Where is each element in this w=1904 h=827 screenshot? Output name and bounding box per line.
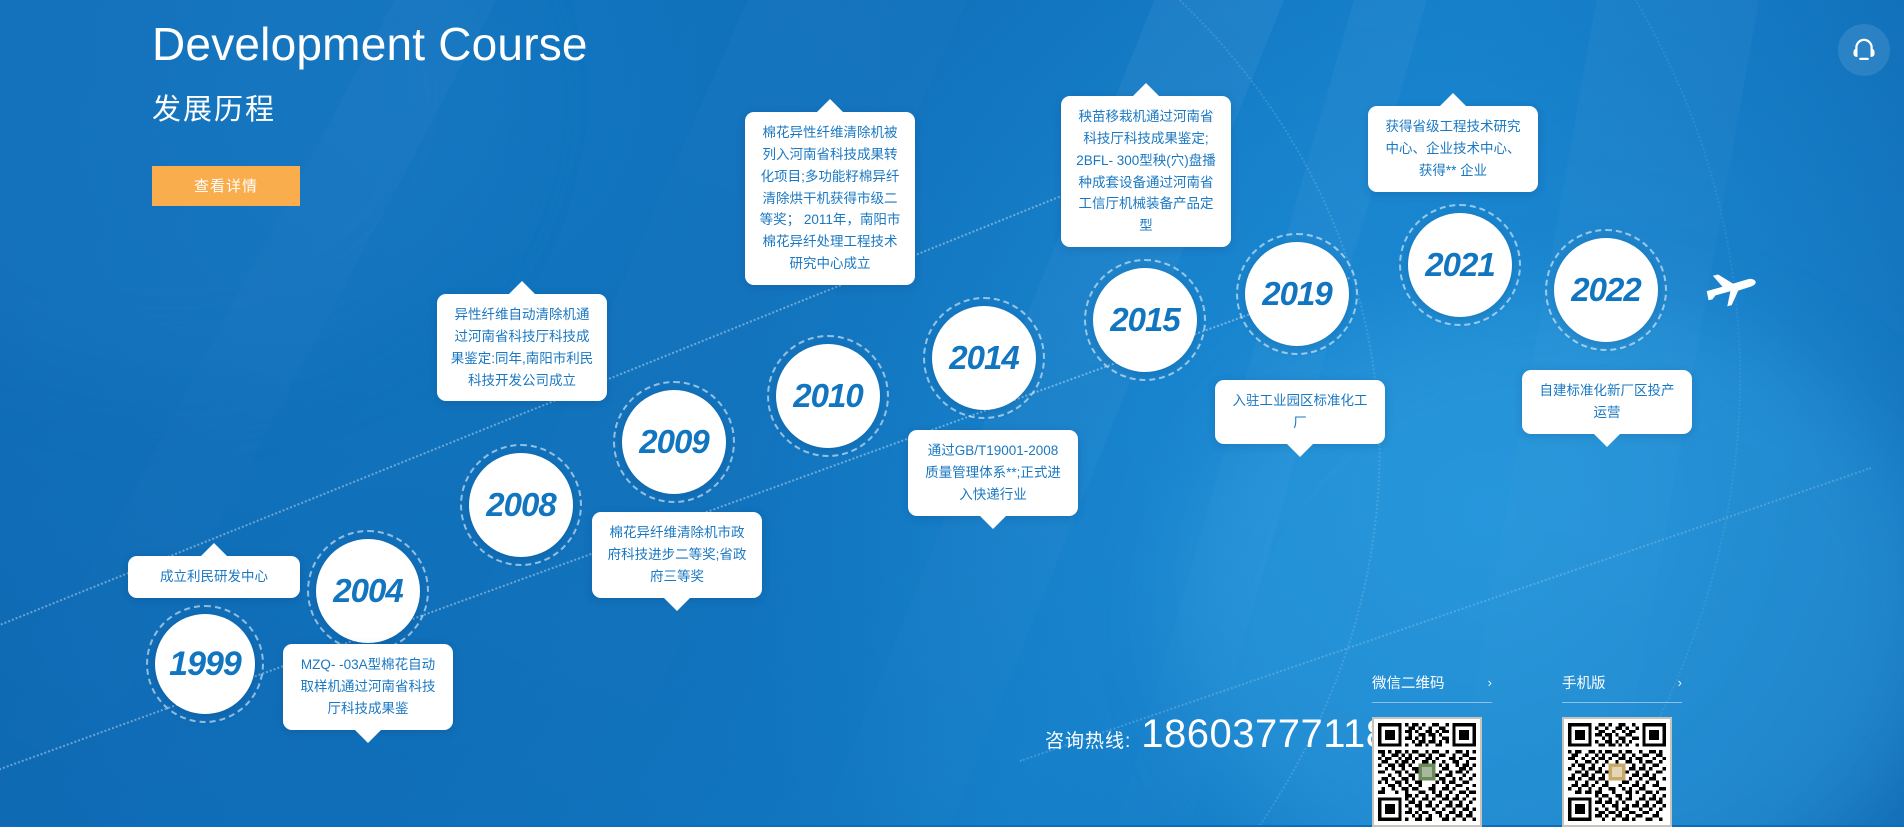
timeline-card-text: 棉花异性纤维清除机被列入河南省科技成果转化项目;多功能籽棉异纤清除烘干机获得市级… — [760, 125, 901, 271]
qr-block-mobile[interactable]: 手机版 › — [1562, 672, 1682, 827]
page-title-english: Development Course — [152, 20, 588, 70]
timeline-year-circle[interactable]: 2021 — [1408, 213, 1512, 317]
chevron-right-icon: › — [1488, 675, 1492, 690]
timeline-year-circle[interactable]: 2008 — [469, 453, 573, 557]
airplane-icon — [1705, 268, 1761, 313]
timeline-card-text: 通过GB/T19001-2008质量管理体系**;正式进入快递行业 — [925, 443, 1061, 502]
timeline-card[interactable]: MZQ- -03A型棉花自动取样机通过河南省科技厅科技成果鉴 — [283, 644, 453, 730]
view-details-button[interactable]: 查看详情 — [152, 166, 300, 206]
timeline-card[interactable]: 异性纤维自动清除机通过河南省科技厅科技成果鉴定:同年,南阳市利民科技开发公司成立 — [437, 294, 607, 401]
timeline-card[interactable]: 获得省级工程技术研究中心、企业技术中心、获得** 企业 — [1368, 106, 1538, 192]
card-pointer-icon — [1440, 93, 1466, 106]
qr-header[interactable]: 手机版 › — [1562, 672, 1682, 703]
timeline-year-label: 1999 — [169, 645, 241, 684]
qr-label: 手机版 — [1562, 672, 1606, 693]
hotline-label: 咨询热线: — [1045, 726, 1131, 753]
timeline-year-circle[interactable]: 2019 — [1245, 242, 1349, 346]
timeline-card-text: 棉花异纤维清除机市政府科技进步二等奖;省政府三等奖 — [608, 525, 747, 584]
card-pointer-icon — [1133, 83, 1159, 96]
qr-code-image-mobile — [1562, 717, 1672, 827]
timeline-year-circle[interactable]: 1999 — [155, 614, 255, 714]
timeline-year-label: 2008 — [486, 486, 555, 524]
timeline-year-label: 2015 — [1110, 301, 1179, 339]
timeline-card[interactable]: 棉花异性纤维清除机被列入河南省科技成果转化项目;多功能籽棉异纤清除烘干机获得市级… — [745, 112, 915, 285]
card-pointer-icon — [1287, 444, 1313, 457]
timeline-card[interactable]: 自建标准化新厂区投产运营 — [1522, 370, 1692, 434]
page-header: Development Course 发展历程 查看详情 — [152, 20, 588, 206]
page-title-chinese: 发展历程 — [152, 86, 588, 128]
card-pointer-icon — [664, 598, 690, 611]
timeline-card-text: 获得省级工程技术研究中心、企业技术中心、获得** 企业 — [1386, 119, 1521, 178]
timeline-year-label: 2010 — [793, 377, 862, 415]
timeline-card-text: 秧苗移栽机通过河南省科技厅科技成果鉴定; 2BFL- 300型秧(穴)盘播种成套… — [1076, 109, 1216, 233]
card-pointer-icon — [201, 543, 227, 556]
timeline-card[interactable]: 入驻工业园区标准化工厂 — [1215, 380, 1385, 444]
qr-header[interactable]: 微信二维码 › — [1372, 672, 1492, 703]
timeline-card-text: 自建标准化新厂区投产运营 — [1540, 383, 1675, 420]
timeline-year-label: 2022 — [1571, 271, 1640, 309]
timeline-card[interactable]: 通过GB/T19001-2008质量管理体系**;正式进入快递行业 — [908, 430, 1078, 516]
timeline-year-label: 2019 — [1262, 275, 1331, 313]
chevron-right-icon: › — [1678, 675, 1682, 690]
timeline-year-circle[interactable]: 2004 — [316, 539, 420, 643]
timeline-year-label: 2004 — [333, 572, 402, 610]
card-pointer-icon — [355, 730, 381, 743]
timeline-card-text: 入驻工业园区标准化工厂 — [1233, 393, 1368, 430]
hotline: 咨询热线: 18603777118 — [1045, 712, 1389, 757]
timeline-year-circle[interactable]: 2009 — [622, 390, 726, 494]
card-pointer-icon — [980, 516, 1006, 529]
timeline-year-label: 2009 — [639, 423, 708, 461]
card-pointer-icon — [1594, 434, 1620, 447]
timeline-card[interactable]: 秧苗移栽机通过河南省科技厅科技成果鉴定; 2BFL- 300型秧(穴)盘播种成套… — [1061, 96, 1231, 247]
timeline-card[interactable]: 棉花异纤维清除机市政府科技进步二等奖;省政府三等奖 — [592, 512, 762, 598]
card-pointer-icon — [509, 281, 535, 294]
timeline-card-text: 异性纤维自动清除机通过河南省科技厅科技成果鉴定:同年,南阳市利民科技开发公司成立 — [451, 307, 594, 388]
timeline-year-circle[interactable]: 2010 — [776, 344, 880, 448]
hotline-number: 18603777118 — [1141, 712, 1388, 757]
qr-code-image-wechat — [1372, 717, 1482, 827]
qr-block-wechat[interactable]: 微信二维码 › — [1372, 672, 1492, 827]
qr-label: 微信二维码 — [1372, 672, 1445, 693]
timeline-year-label: 2021 — [1425, 246, 1494, 284]
timeline-year-circle[interactable]: 2014 — [932, 306, 1036, 410]
timeline-card-text: MZQ- -03A型棉花自动取样机通过河南省科技厅科技成果鉴 — [301, 657, 436, 716]
timeline-card[interactable]: 成立利民研发中心 — [128, 556, 300, 598]
timeline-year-circle[interactable]: 2015 — [1093, 268, 1197, 372]
card-pointer-icon — [817, 99, 843, 112]
timeline-year-label: 2014 — [949, 339, 1018, 377]
headset-icon[interactable] — [1838, 24, 1890, 76]
timeline-card-text: 成立利民研发中心 — [160, 569, 268, 584]
timeline-year-circle[interactable]: 2022 — [1554, 238, 1658, 342]
